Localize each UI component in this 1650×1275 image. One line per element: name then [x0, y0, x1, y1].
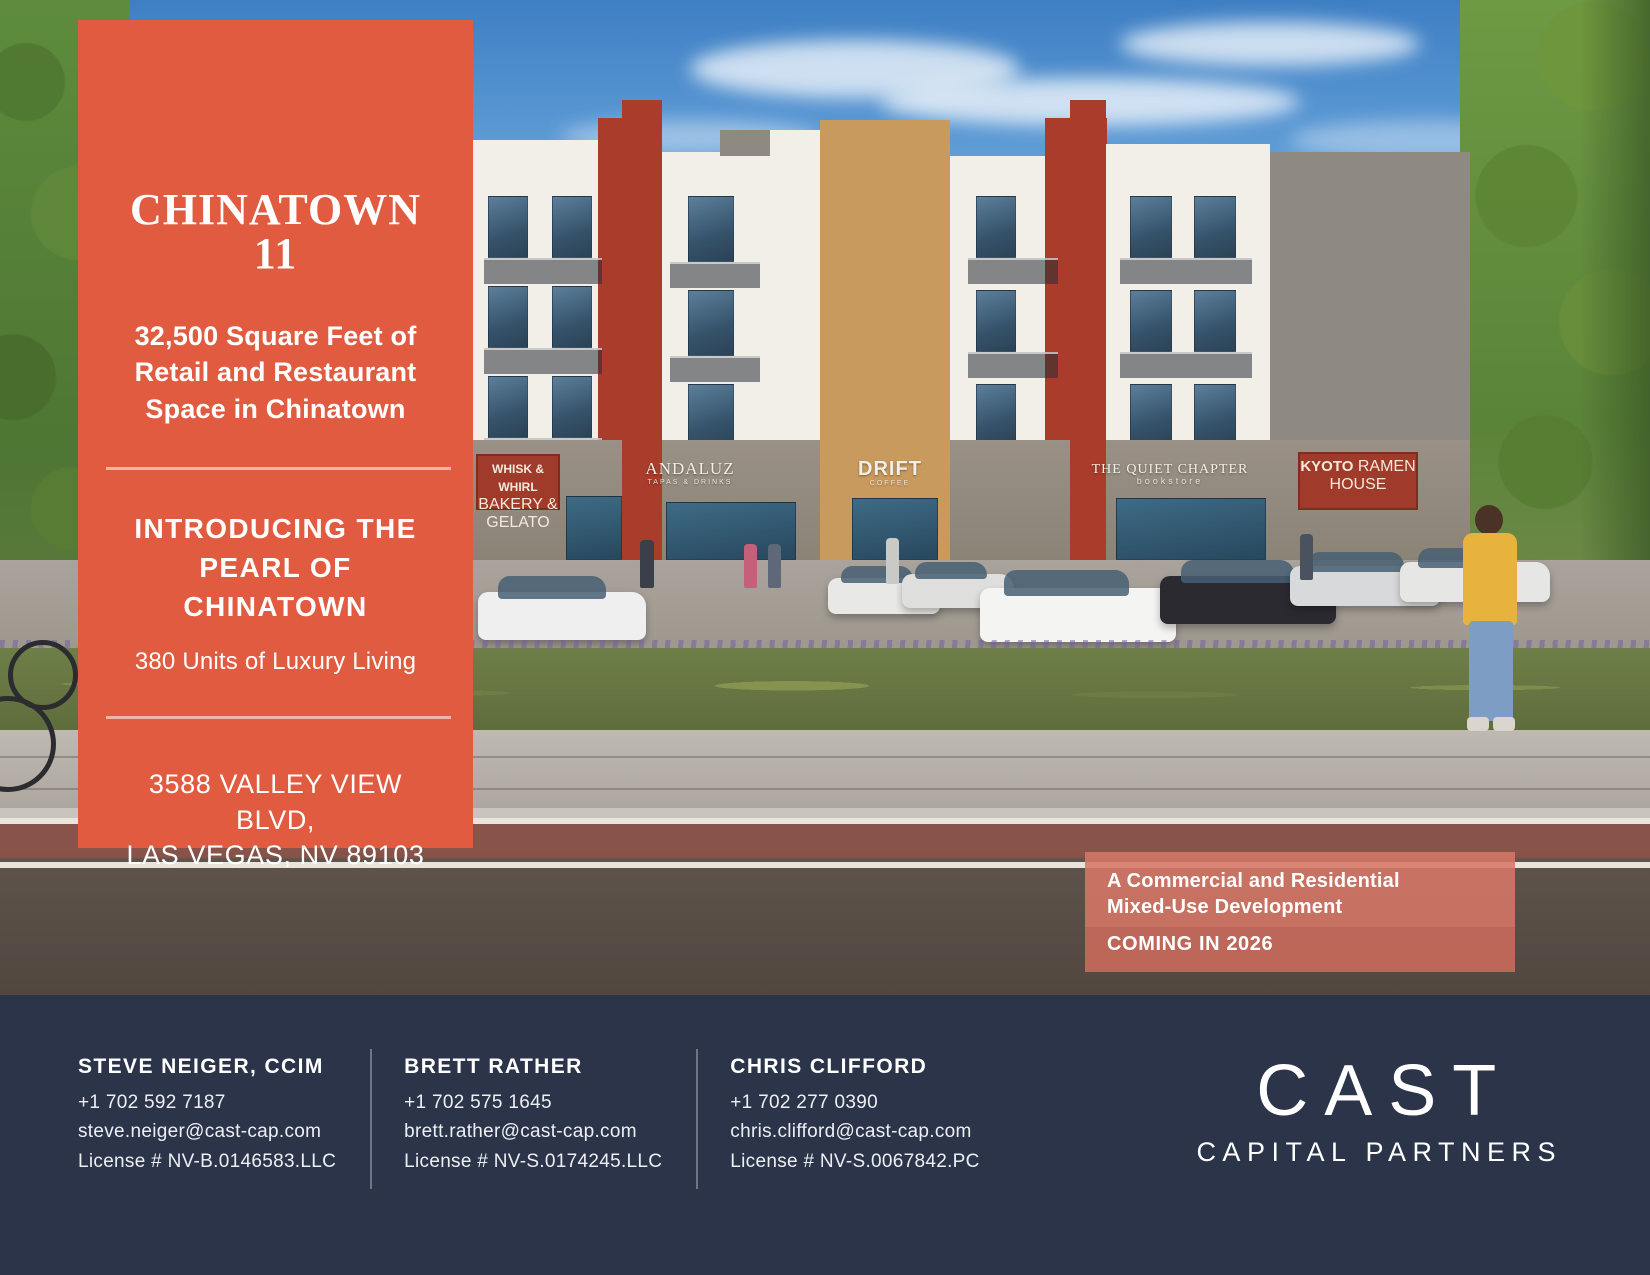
development-callout: A Commercial and Residential Mixed-Use D… [1085, 852, 1515, 972]
contact-license: License # NV-S.0067842.PC [730, 1147, 979, 1176]
storefront-sub: COFFEE [842, 480, 938, 488]
pedestrian [1300, 534, 1313, 580]
divider [106, 716, 451, 719]
storefront-sign-whisk-whirl: WHISK & WHIRL BAKERY & GELATO [476, 454, 560, 510]
contact-name: STEVE NEIGER, CCIM [78, 1055, 336, 1079]
callout-description: A Commercial and Residential Mixed-Use D… [1085, 852, 1515, 927]
contact-email[interactable]: steve.neiger@cast-cap.com [78, 1117, 336, 1146]
pedestrian [744, 544, 757, 588]
contact-phone[interactable]: +1 702 592 7187 [78, 1088, 336, 1117]
panel-intro-headline: INTRODUCING THE PEARL OF CHINATOWN [106, 510, 445, 626]
cloud [1120, 22, 1420, 66]
panel-units-text: 380 Units of Luxury Living [106, 648, 445, 676]
divider [106, 467, 451, 470]
page-title: CHINATOWN 11 [106, 188, 445, 276]
contact-license: License # NV-B.0146583.LLC [78, 1147, 336, 1176]
contact-card: CHRIS CLIFFORD +1 702 277 0390 chris.cli… [696, 1055, 1013, 1176]
contact-email[interactable]: brett.rather@cast-cap.com [404, 1117, 662, 1146]
contact-email[interactable]: chris.clifford@cast-cap.com [730, 1117, 979, 1146]
contact-phone[interactable]: +1 702 277 0390 [730, 1088, 979, 1117]
callout-line-1: A Commercial and Residential [1107, 868, 1493, 894]
pedestrian [886, 538, 899, 584]
contact-license: License # NV-S.0174245.LLC [404, 1147, 662, 1176]
contact-card: STEVE NEIGER, CCIM +1 702 592 7187 steve… [78, 1055, 370, 1176]
contact-card: BRETT RATHER +1 702 575 1645 brett.rathe… [370, 1055, 696, 1176]
property-address: 3588 VALLEY VIEW BLVD, LAS VEGAS, NV 891… [106, 767, 445, 874]
storefront-name: KYOTO [1300, 458, 1353, 475]
address-line-2: LAS VEGAS, NV 89103 [106, 838, 445, 874]
callout-timing: COMING IN 2026 [1085, 927, 1515, 972]
storefront-sub: bookstore [1060, 477, 1280, 487]
contact-name: BRETT RATHER [404, 1055, 662, 1079]
storefront-name: DRIFT [842, 458, 938, 480]
pedestrian [640, 540, 654, 588]
foreground-pedestrian [1455, 505, 1525, 735]
storefront-sign-drift: DRIFT COFFEE [842, 458, 938, 488]
property-flyer: WHISK & WHIRL BAKERY & GELATO ANDALUZ TA… [0, 0, 1650, 1275]
address-line-1: 3588 VALLEY VIEW BLVD, [106, 767, 445, 838]
footer: STEVE NEIGER, CCIM +1 702 592 7187 steve… [0, 995, 1650, 1275]
panel-subtitle: 32,500 Square Feet of Retail and Restaur… [106, 318, 445, 427]
logo-wordmark: CAST [1190, 1055, 1562, 1127]
parked-car [478, 592, 646, 640]
storefront-sign-quiet-chapter: THE QUIET CHAPTER bookstore [1060, 462, 1280, 487]
storefront-sub: BAKERY & GELATO [478, 496, 557, 531]
pedestrian [768, 544, 781, 588]
parked-car [980, 588, 1176, 642]
contact-list: STEVE NEIGER, CCIM +1 702 592 7187 steve… [78, 1055, 1014, 1176]
contact-name: CHRIS CLIFFORD [730, 1055, 979, 1079]
storefront-name: WHISK & WHIRL [492, 462, 544, 494]
cast-capital-partners-logo: CAST CAPITAL PARTNERS [1190, 1055, 1562, 1168]
storefront-sign-kyoto: KYOTO RAMEN HOUSE [1298, 452, 1418, 510]
storefront-sub: TAPAS & DRINKS [620, 479, 760, 487]
logo-tagline: CAPITAL PARTNERS [1190, 1137, 1562, 1168]
retail-storefront-band: WHISK & WHIRL BAKERY & GELATO ANDALUZ TA… [470, 440, 1470, 560]
storefront-sign-andaluz: ANDALUZ TAPAS & DRINKS [620, 460, 760, 486]
info-panel: CHINATOWN 11 32,500 Square Feet of Retai… [78, 20, 473, 848]
callout-line-2: Mixed-Use Development [1107, 894, 1493, 920]
contact-phone[interactable]: +1 702 575 1645 [404, 1088, 662, 1117]
storefront-name: ANDALUZ [620, 460, 760, 479]
